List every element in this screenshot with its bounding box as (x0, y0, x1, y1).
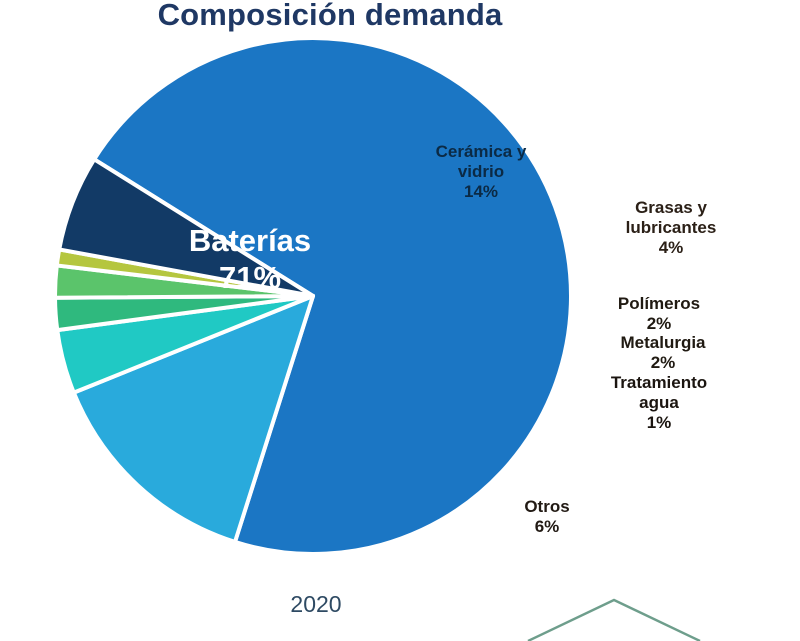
decorative-chevron-outline (528, 600, 700, 641)
pie-slice-group (55, 38, 571, 554)
chevron-outline-path (528, 600, 700, 641)
pie-chart-figure: Composición demanda Baterías 71% Cerámic… (0, 0, 800, 641)
pie-chart-canvas (0, 0, 800, 641)
year-caption: 2020 (246, 591, 386, 618)
